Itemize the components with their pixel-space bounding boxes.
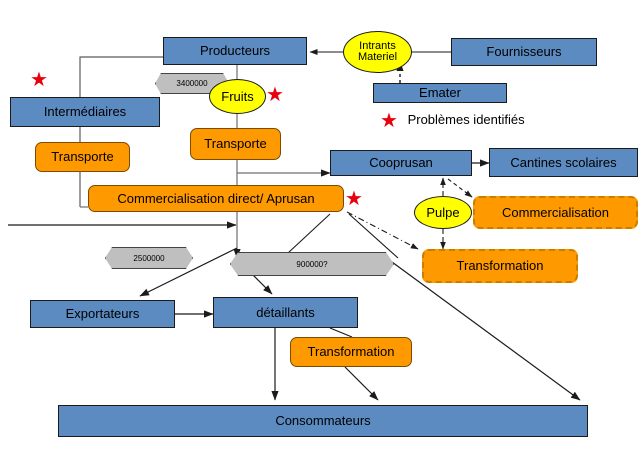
problem-star-icon: ★ xyxy=(30,70,48,90)
node-cantines-scolaires-label: Cantines scolaires xyxy=(510,156,616,170)
flow-value-2500000-label: 2500000 xyxy=(133,254,164,263)
legend-star-icon: ★ xyxy=(380,110,398,132)
node-intrants-materiel[interactable]: Intrants Materiel xyxy=(343,31,412,73)
flow-value-900000: 900000? xyxy=(230,252,394,276)
node-exportateurs[interactable]: Exportateurs xyxy=(30,300,175,328)
node-cantines-scolaires[interactable]: Cantines scolaires xyxy=(489,148,638,177)
node-detaillants[interactable]: détaillants xyxy=(213,297,358,328)
node-commercialisation-direct[interactable]: Commercialisation direct/ Aprusan xyxy=(88,185,344,212)
node-detaillants-label: détaillants xyxy=(256,306,315,320)
legend: ★ Problèmes identifiés xyxy=(380,108,525,128)
node-exportateurs-label: Exportateurs xyxy=(66,307,140,321)
node-transporte-left[interactable]: Transporte xyxy=(35,142,130,172)
node-fournisseurs[interactable]: Fournisseurs xyxy=(451,38,597,66)
legend-label: Problèmes identifiés xyxy=(408,112,525,127)
node-emater-label: Emater xyxy=(419,86,461,100)
node-transformation-bottom-label: Transformation xyxy=(308,345,395,359)
node-pulpe[interactable]: Pulpe xyxy=(414,196,472,229)
diagram-canvas: Producteurs Intrants Materiel Fournisseu… xyxy=(0,0,643,459)
node-materiel-label: Materiel xyxy=(358,52,397,63)
node-intermediaires[interactable]: Intermédiaires xyxy=(10,97,160,127)
node-cooprusan-label: Cooprusan xyxy=(369,156,433,170)
node-fruits[interactable]: Fruits xyxy=(209,79,266,114)
node-fruits-label: Fruits xyxy=(221,90,254,104)
problem-star-icon: ★ xyxy=(266,85,284,105)
node-consommateurs[interactable]: Consommateurs xyxy=(58,405,588,437)
node-transporte-center[interactable]: Transporte xyxy=(190,128,281,160)
node-pulpe-label: Pulpe xyxy=(426,206,459,220)
node-producteurs-label: Producteurs xyxy=(200,44,270,58)
node-emater[interactable]: Emater xyxy=(373,83,507,103)
problem-star-icon: ★ xyxy=(345,189,363,209)
flow-value-2500000: 2500000 xyxy=(105,247,193,269)
node-commercialisation-direct-label: Commercialisation direct/ Aprusan xyxy=(117,192,314,206)
node-consommateurs-label: Consommateurs xyxy=(275,414,370,428)
node-transformation-bottom[interactable]: Transformation xyxy=(290,337,412,367)
node-producteurs[interactable]: Producteurs xyxy=(163,37,307,65)
node-transporte-center-label: Transporte xyxy=(204,137,266,151)
flow-value-900000-label: 900000? xyxy=(296,260,327,269)
node-cooprusan[interactable]: Cooprusan xyxy=(330,150,472,176)
node-intermediaires-label: Intermédiaires xyxy=(44,105,126,119)
node-transformation-right[interactable]: Transformation xyxy=(422,249,578,283)
node-commercialisation-label: Commercialisation xyxy=(502,206,609,220)
node-fournisseurs-label: Fournisseurs xyxy=(486,45,561,59)
node-transporte-left-label: Transporte xyxy=(51,150,113,164)
node-commercialisation[interactable]: Commercialisation xyxy=(473,196,638,229)
node-transformation-right-label: Transformation xyxy=(457,259,544,273)
flow-value-3400000-label: 3400000 xyxy=(176,79,207,88)
diagram-edges xyxy=(0,0,643,459)
